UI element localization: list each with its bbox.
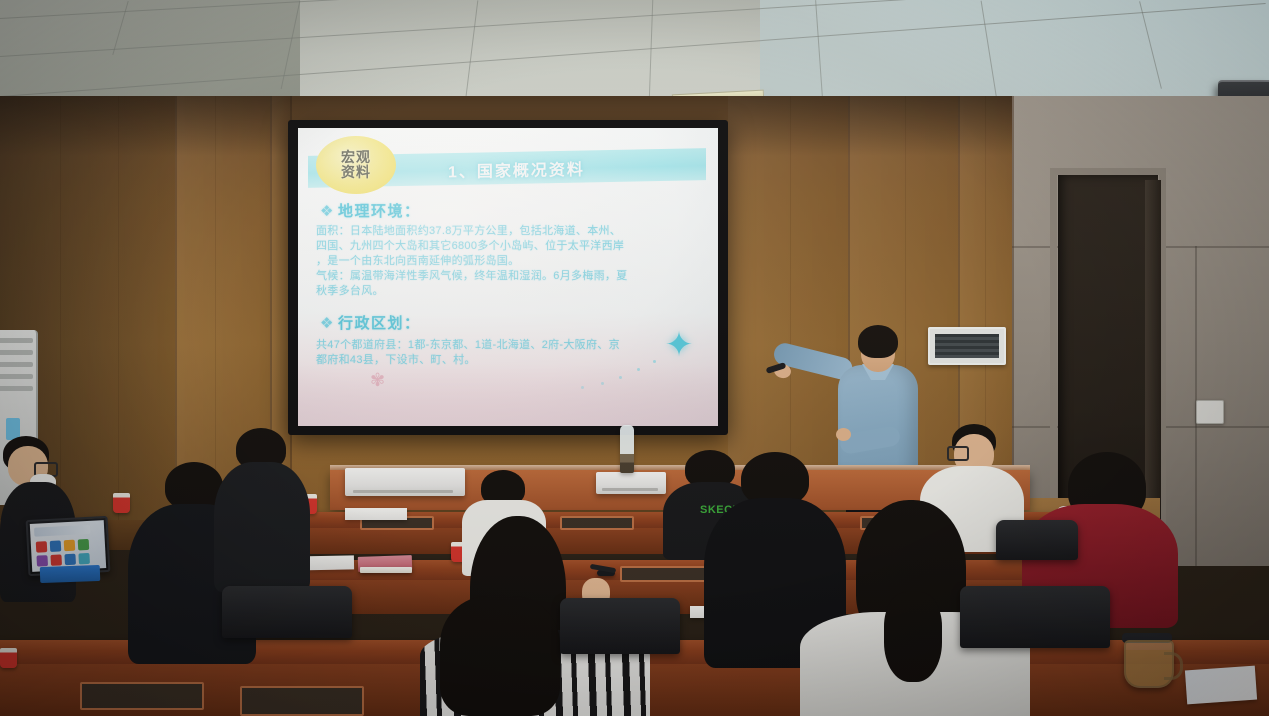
chair-back xyxy=(560,598,680,654)
app-tile[interactable] xyxy=(78,539,90,551)
tablet-keyboard[interactable] xyxy=(40,565,101,583)
app-tile[interactable] xyxy=(64,554,76,566)
presenter-hair xyxy=(858,325,898,358)
attendee-hair-long xyxy=(440,596,560,716)
wall-light-switch[interactable] xyxy=(1196,400,1224,424)
slide-body-line: 气候：属温带海洋性季风气候，终年温和湿润。6月多梅雨，夏 xyxy=(316,269,708,284)
slide-body-line: 四国、九州四个大岛和其它6800多个小岛屿、位于太平洋西岸 xyxy=(316,239,708,254)
slide-body-line: ，是一个由东北向西南延伸的弧形岛国。 xyxy=(316,254,708,269)
water-bottle xyxy=(620,425,634,473)
ac-louver xyxy=(0,350,33,355)
diamond-bullet-icon: ❖ xyxy=(320,202,335,220)
printer-slot xyxy=(602,488,658,491)
paper-sheet xyxy=(345,508,407,520)
attendee-ponytail xyxy=(884,592,942,682)
chair-back xyxy=(960,586,1110,648)
slide-body-line: 共47个都道府县：1都-东京都、1道-北海道、2府-大阪府、京 xyxy=(316,338,708,353)
paper-cup xyxy=(0,648,17,668)
desk-inset-panel xyxy=(620,566,710,582)
classroom-photo-scene: 1、国家概况资料 宏观 资料 ❖地理环境： 面积：日本陆地面积约37.8万平方公… xyxy=(0,0,1269,716)
eyeglasses xyxy=(947,446,969,461)
slide-heading-text: 地理环境： xyxy=(338,203,421,220)
slide-footer-gradient xyxy=(298,364,718,426)
slide-heading-geography: ❖地理环境： xyxy=(320,200,420,221)
slide-badge-line-2: 资料 xyxy=(341,165,371,180)
slide-heading-text: 行政区划： xyxy=(338,315,421,332)
app-tile[interactable] xyxy=(50,554,62,566)
desk-inset-panel xyxy=(560,516,634,530)
ac-louver xyxy=(0,362,33,367)
app-tile[interactable] xyxy=(78,553,90,565)
app-header-bar xyxy=(34,525,90,537)
slide-body-line: 面积：日本陆地面积约37.8万平方公里，包括北海道、本州、 xyxy=(316,224,708,239)
ac-louver xyxy=(0,338,33,343)
slide-body-line: 秋季多台风。 xyxy=(316,284,708,299)
projection-screen: 1、国家概况资料 宏观 资料 ❖地理环境： 面积：日本陆地面积约37.8万平方公… xyxy=(298,128,718,426)
presenter-hand-2 xyxy=(836,428,851,441)
slide-badge-line-1: 宏观 xyxy=(341,150,371,165)
desk-inset-panel xyxy=(80,682,204,710)
notebook-pages xyxy=(360,567,412,573)
air-vent-grille xyxy=(928,327,1006,365)
document-scanner xyxy=(345,468,465,496)
printer-device xyxy=(596,472,666,494)
ac-louver xyxy=(0,386,33,391)
app-tile[interactable] xyxy=(36,555,48,567)
paper-document xyxy=(1185,666,1257,705)
chair-back xyxy=(222,586,352,638)
app-tile[interactable] xyxy=(50,540,62,552)
slide-badge: 宏观 资料 xyxy=(316,136,396,194)
diamond-bullet-icon: ❖ xyxy=(320,314,335,332)
paper-cup xyxy=(113,493,130,513)
slide-body-geography: 面积：日本陆地面积约37.8万平方公里，包括北海道、本州、 四国、九州四个大岛和… xyxy=(316,224,708,299)
chair-back xyxy=(996,520,1078,560)
app-tile[interactable] xyxy=(64,540,76,552)
slide-heading-admin: ❖行政区划： xyxy=(320,312,420,333)
air-vent-louvers xyxy=(935,334,999,358)
scanner-slot xyxy=(353,490,453,493)
ac-louver xyxy=(0,374,33,379)
app-tile[interactable] xyxy=(36,541,48,553)
attendee-torso xyxy=(214,462,310,592)
desk-inset-panel xyxy=(240,686,364,716)
sparkle-dot xyxy=(653,360,656,363)
flower-decoration-icon: ✾ xyxy=(370,370,396,392)
slide-title: 1、国家概况资料 xyxy=(448,154,698,185)
